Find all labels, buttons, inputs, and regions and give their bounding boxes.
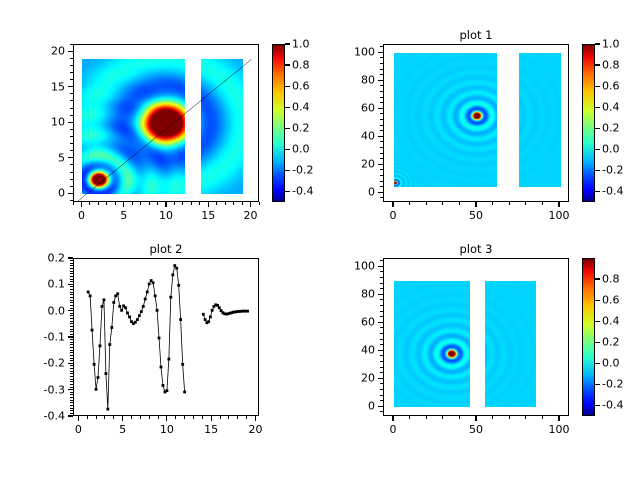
x-tick-minor — [409, 202, 410, 205]
y-tick-minor — [380, 197, 383, 198]
y-tick-minor — [380, 102, 383, 103]
x-tick-minor — [132, 202, 133, 205]
x-tick-label: 0 — [389, 209, 396, 222]
y-tick-label: -0.1 — [0, 331, 65, 344]
y-tick-minor — [380, 69, 383, 70]
y-tick-minor — [70, 263, 73, 264]
colorbar-tick-label: 0.2 — [292, 122, 310, 135]
x-tick-minor — [191, 202, 192, 205]
data-point — [142, 305, 145, 308]
data-point — [128, 316, 131, 319]
y-tick-minor — [70, 305, 73, 306]
y-tick-minor — [70, 352, 73, 353]
y-tick-minor — [70, 150, 73, 151]
y-tick-label: -0.3 — [0, 383, 65, 396]
y-tick-minor — [70, 284, 73, 285]
x-tick-minor — [255, 416, 256, 419]
y-tick-minor — [70, 371, 73, 372]
colorbar-tick-label: -0.4 — [602, 399, 623, 412]
y-tick-minor — [380, 169, 383, 170]
y-tick-minor — [70, 400, 73, 401]
x-tick-minor — [81, 202, 82, 205]
colorbar-tick-label: 1.0 — [602, 38, 620, 51]
x-tick-minor — [459, 416, 460, 419]
y-tick-minor — [70, 294, 73, 295]
data-point — [156, 309, 159, 312]
y-tick-minor — [380, 327, 383, 328]
y-tick-label: 10 — [0, 116, 65, 129]
data-point — [175, 267, 178, 270]
y-tick-minor — [70, 289, 73, 290]
x-tick-label: 15 — [201, 209, 215, 222]
colorbar-tick — [595, 64, 600, 65]
y-tick-minor — [70, 58, 73, 59]
y-tick-minor — [380, 125, 383, 126]
colorbar-tick — [595, 191, 600, 192]
y-tick-minor — [70, 402, 73, 403]
data-point — [103, 298, 106, 301]
y-tick-minor — [380, 299, 383, 300]
y-tick-minor — [70, 72, 73, 73]
y-tick-minor — [380, 97, 383, 98]
plot-area-subplot-top-left — [73, 44, 259, 202]
data-point — [181, 363, 184, 366]
data-point — [120, 309, 123, 312]
colorbar-tick-label: 0.4 — [292, 101, 310, 114]
x-tick-minor — [131, 416, 132, 419]
y-tick-minor — [70, 302, 73, 303]
x-tick-label: 0 — [78, 209, 85, 222]
x-tick-minor — [442, 202, 443, 205]
y-tick-minor — [70, 373, 73, 374]
x-tick-minor — [182, 202, 183, 205]
data-point — [171, 273, 174, 276]
data-point — [97, 376, 100, 379]
colorbar-tick-label: 0.2 — [602, 336, 620, 349]
y-tick-minor — [70, 100, 73, 101]
data-point — [160, 366, 163, 369]
heatmap-image-block-left — [394, 53, 497, 187]
y-tick-label: 100 — [331, 260, 375, 273]
diagonal-reference-line — [74, 45, 259, 202]
y-tick-minor — [70, 310, 73, 311]
x-tick-minor — [149, 202, 150, 205]
y-tick-minor — [380, 271, 383, 272]
colorbar-tick — [285, 86, 290, 87]
x-tick-minor — [525, 202, 526, 205]
line-segment-1 — [88, 266, 184, 410]
colorbar-tick — [595, 278, 600, 279]
y-tick-minor — [380, 339, 383, 340]
y-tick-minor — [70, 271, 73, 272]
x-tick-label: 10 — [160, 423, 174, 436]
data-point — [118, 305, 121, 308]
y-tick-minor — [380, 316, 383, 317]
y-tick-minor — [380, 164, 383, 165]
data-point — [177, 284, 180, 287]
y-tick-minor — [380, 344, 383, 345]
data-point — [110, 326, 113, 329]
y-tick-minor — [70, 276, 73, 277]
y-tick-minor — [70, 65, 73, 66]
colorbar-tick-label: 0.6 — [602, 294, 620, 307]
y-tick-minor — [380, 192, 383, 193]
x-tick-minor — [525, 416, 526, 419]
y-tick-minor — [70, 347, 73, 348]
y-tick-minor — [380, 85, 383, 86]
y-tick-label: 0 — [331, 400, 375, 413]
x-tick-minor — [157, 202, 158, 205]
x-tick-label: 10 — [159, 209, 173, 222]
y-tick-label: 0.0 — [0, 304, 65, 317]
x-tick-minor — [426, 202, 427, 205]
y-tick-minor — [70, 273, 73, 274]
y-tick-label: 15 — [0, 80, 65, 93]
x-tick-minor — [208, 202, 209, 205]
colorbar-tick — [595, 405, 600, 406]
y-tick-minor — [70, 381, 73, 382]
colorbar — [582, 258, 595, 416]
y-tick-minor — [70, 331, 73, 332]
y-tick-minor — [380, 91, 383, 92]
y-tick-minor — [70, 397, 73, 398]
x-tick-minor — [78, 416, 79, 419]
y-tick-minor — [380, 283, 383, 284]
data-point — [166, 389, 169, 392]
y-tick-minor — [70, 258, 73, 259]
x-tick-minor — [89, 202, 90, 205]
y-tick-minor — [380, 355, 383, 356]
y-tick-minor — [380, 52, 383, 53]
y-tick-minor — [380, 130, 383, 131]
data-point — [179, 318, 182, 321]
y-tick-minor — [380, 350, 383, 351]
x-tick-minor — [96, 416, 97, 419]
x-tick-minor — [225, 202, 226, 205]
y-tick-minor — [70, 300, 73, 301]
x-tick-minor — [233, 202, 234, 205]
x-tick-minor — [166, 416, 167, 419]
y-tick-minor — [380, 136, 383, 137]
data-point — [108, 343, 111, 346]
x-tick-minor — [87, 416, 88, 419]
y-tick-minor — [70, 260, 73, 261]
colorbar-tick — [285, 128, 290, 129]
y-tick-label: 80 — [331, 288, 375, 301]
y-tick-minor — [380, 372, 383, 373]
x-tick-minor — [409, 416, 410, 419]
data-point — [169, 296, 172, 299]
y-tick-minor — [70, 279, 73, 280]
y-tick-label: 20 — [0, 45, 65, 58]
y-tick-label: 40 — [331, 344, 375, 357]
data-point — [136, 318, 139, 321]
y-tick-minor — [70, 408, 73, 409]
y-tick-minor — [70, 164, 73, 165]
y-tick-minor — [70, 329, 73, 330]
data-point — [204, 318, 207, 321]
data-point — [173, 264, 176, 267]
x-tick-label: 100 — [549, 209, 570, 222]
data-point — [87, 291, 90, 294]
y-tick-minor — [380, 147, 383, 148]
y-tick-label: 100 — [331, 46, 375, 59]
x-tick-minor — [115, 202, 116, 205]
x-tick-minor — [492, 416, 493, 419]
line-series-group — [74, 259, 259, 416]
x-tick-minor — [220, 416, 221, 419]
x-tick-minor — [476, 416, 477, 419]
y-tick-minor — [380, 113, 383, 114]
x-tick-minor — [106, 202, 107, 205]
y-tick-minor — [70, 410, 73, 411]
colorbar — [272, 44, 285, 202]
y-tick-minor — [70, 394, 73, 395]
y-tick-minor — [380, 266, 383, 267]
x-tick-minor — [193, 416, 194, 419]
colorbar-tick-label: 0.8 — [602, 273, 620, 286]
x-tick-minor — [73, 202, 74, 205]
colorbar-tick — [285, 43, 290, 44]
colorbar-tick-label: -0.2 — [602, 164, 623, 177]
data-point — [148, 283, 151, 286]
x-tick-minor — [104, 416, 105, 419]
data-point — [209, 316, 212, 319]
x-tick-minor — [122, 416, 123, 419]
y-tick-minor — [70, 355, 73, 356]
y-tick-minor — [70, 172, 73, 173]
y-tick-minor — [380, 80, 383, 81]
x-tick-minor — [184, 416, 185, 419]
colorbar-tick-label: 0.2 — [602, 122, 620, 135]
y-tick-minor — [70, 79, 73, 80]
data-point — [126, 312, 129, 315]
y-tick-minor — [380, 411, 383, 412]
x-tick-minor — [202, 416, 203, 419]
y-tick-minor — [70, 344, 73, 345]
y-tick-minor — [70, 193, 73, 194]
x-tick-minor — [442, 416, 443, 419]
y-tick-minor — [380, 158, 383, 159]
x-tick-label: 20 — [244, 209, 258, 222]
y-tick-minor — [70, 318, 73, 319]
colorbar-tick — [285, 149, 290, 150]
y-tick-minor — [70, 384, 73, 385]
data-point — [134, 321, 137, 324]
y-tick-minor — [70, 334, 73, 335]
colorbar-tick-label: 0.6 — [602, 80, 620, 93]
y-tick-minor — [70, 136, 73, 137]
colorbar-tick-label: 0.4 — [602, 101, 620, 114]
y-tick-minor — [380, 305, 383, 306]
y-tick-minor — [70, 143, 73, 144]
y-tick-minor — [70, 413, 73, 414]
y-tick-label: 0.2 — [0, 252, 65, 265]
y-tick-minor — [70, 115, 73, 116]
y-tick-minor — [380, 153, 383, 154]
data-point — [104, 372, 107, 375]
subplot-title: plot 3 — [383, 242, 569, 256]
x-tick-label: 50 — [469, 423, 483, 436]
colorbar-tick — [595, 170, 600, 171]
y-tick-minor — [380, 395, 383, 396]
colorbar-tick-label: 0.0 — [602, 357, 620, 370]
y-tick-label: 0.1 — [0, 278, 65, 291]
heatmap-image-block-left — [394, 281, 470, 407]
y-tick-minor — [380, 378, 383, 379]
data-point — [116, 292, 119, 295]
colorbar-tick — [595, 321, 600, 322]
x-tick-minor — [140, 202, 141, 205]
y-tick-minor — [380, 46, 383, 47]
y-tick-minor — [70, 389, 73, 390]
colorbar-tick-label: 0.0 — [602, 143, 620, 156]
colorbar-tick-label: -0.4 — [292, 185, 313, 198]
y-tick-minor — [380, 400, 383, 401]
y-tick-minor — [70, 286, 73, 287]
x-tick-minor — [542, 416, 543, 419]
data-point — [144, 298, 147, 301]
y-tick-minor — [70, 360, 73, 361]
y-tick-minor — [70, 281, 73, 282]
y-tick-label: 20 — [331, 158, 375, 171]
y-tick-minor — [70, 358, 73, 359]
y-tick-minor — [70, 323, 73, 324]
y-tick-minor — [70, 51, 73, 52]
x-tick-minor — [509, 416, 510, 419]
y-tick-minor — [380, 57, 383, 58]
y-tick-minor — [70, 108, 73, 109]
y-tick-minor — [380, 141, 383, 142]
x-tick-label: 5 — [119, 423, 126, 436]
plot-area-subplot-bottom-right — [383, 258, 569, 416]
colorbar-tick-label: -0.2 — [292, 164, 313, 177]
x-tick-minor — [259, 202, 260, 205]
data-point — [138, 314, 141, 317]
x-tick-minor — [542, 202, 543, 205]
y-tick-minor — [380, 367, 383, 368]
x-tick-minor — [237, 416, 238, 419]
x-tick-minor — [426, 416, 427, 419]
y-tick-label: 0 — [331, 186, 375, 199]
colorbar-tick — [595, 149, 600, 150]
data-point — [124, 306, 127, 309]
x-tick-minor — [459, 202, 460, 205]
x-tick-label: 5 — [120, 209, 127, 222]
colorbar-tick — [595, 86, 600, 87]
y-tick-minor — [70, 387, 73, 388]
data-point — [112, 301, 115, 304]
y-tick-label: 20 — [331, 372, 375, 385]
x-tick-label: 15 — [204, 423, 218, 436]
y-tick-minor — [70, 326, 73, 327]
y-tick-minor — [70, 342, 73, 343]
x-tick-label: 20 — [248, 423, 262, 436]
colorbar-tick — [595, 128, 600, 129]
y-tick-minor — [380, 119, 383, 120]
x-tick-minor — [123, 202, 124, 205]
colorbar-tick-label: 0.4 — [602, 315, 620, 328]
y-tick-minor — [70, 379, 73, 380]
y-tick-label: -0.4 — [0, 410, 65, 423]
x-tick-minor — [113, 416, 114, 419]
y-tick-minor — [70, 416, 73, 417]
colorbar-tick — [285, 170, 290, 171]
data-point — [202, 313, 205, 316]
data-point — [95, 388, 98, 391]
colorbar-tick — [285, 107, 290, 108]
colorbar-tick-label: 0.8 — [292, 59, 310, 72]
y-tick-minor — [380, 181, 383, 182]
data-point — [218, 306, 221, 309]
data-point — [211, 309, 214, 312]
x-tick-minor — [492, 202, 493, 205]
data-point — [158, 337, 161, 340]
x-tick-minor — [211, 416, 212, 419]
data-point — [106, 408, 109, 411]
data-point — [162, 384, 165, 387]
x-tick-minor — [559, 416, 560, 419]
y-tick-minor — [70, 93, 73, 94]
y-tick-minor — [70, 337, 73, 338]
y-tick-minor — [380, 389, 383, 390]
y-tick-minor — [380, 288, 383, 289]
colorbar-tick — [595, 300, 600, 301]
y-tick-minor — [70, 308, 73, 309]
subplot-title: plot 2 — [73, 242, 259, 256]
y-tick-minor — [70, 392, 73, 393]
data-point — [101, 305, 104, 308]
y-tick-minor — [70, 86, 73, 87]
y-tick-minor — [70, 268, 73, 269]
y-tick-minor — [70, 122, 73, 123]
y-tick-minor — [70, 315, 73, 316]
x-tick-minor — [216, 202, 217, 205]
colorbar-tick — [595, 107, 600, 108]
y-tick-label: -0.2 — [0, 357, 65, 370]
data-point — [152, 281, 155, 284]
heatmap-image-block-right — [519, 53, 561, 187]
x-tick-label: 50 — [469, 209, 483, 222]
x-tick-minor — [392, 416, 393, 419]
x-tick-minor — [140, 416, 141, 419]
y-tick-minor — [380, 361, 383, 362]
x-tick-minor — [246, 416, 247, 419]
x-tick-minor — [149, 416, 150, 419]
y-tick-minor — [70, 129, 73, 130]
y-tick-minor — [380, 260, 383, 261]
x-tick-minor — [250, 202, 251, 205]
y-tick-label: 80 — [331, 74, 375, 87]
y-tick-minor — [70, 44, 73, 45]
colorbar-tick — [595, 384, 600, 385]
y-tick-minor — [70, 376, 73, 377]
plot-area-subplot-top-right — [383, 44, 569, 202]
y-tick-minor — [380, 108, 383, 109]
data-point — [93, 363, 96, 366]
y-tick-minor — [380, 63, 383, 64]
y-tick-minor — [70, 313, 73, 314]
x-tick-minor — [242, 202, 243, 205]
data-point — [91, 329, 94, 332]
x-tick-minor — [98, 202, 99, 205]
data-point — [146, 291, 149, 294]
y-tick-minor — [70, 350, 73, 351]
colorbar-tick — [595, 363, 600, 364]
y-tick-minor — [380, 406, 383, 407]
y-tick-minor — [70, 405, 73, 406]
y-tick-minor — [380, 175, 383, 176]
